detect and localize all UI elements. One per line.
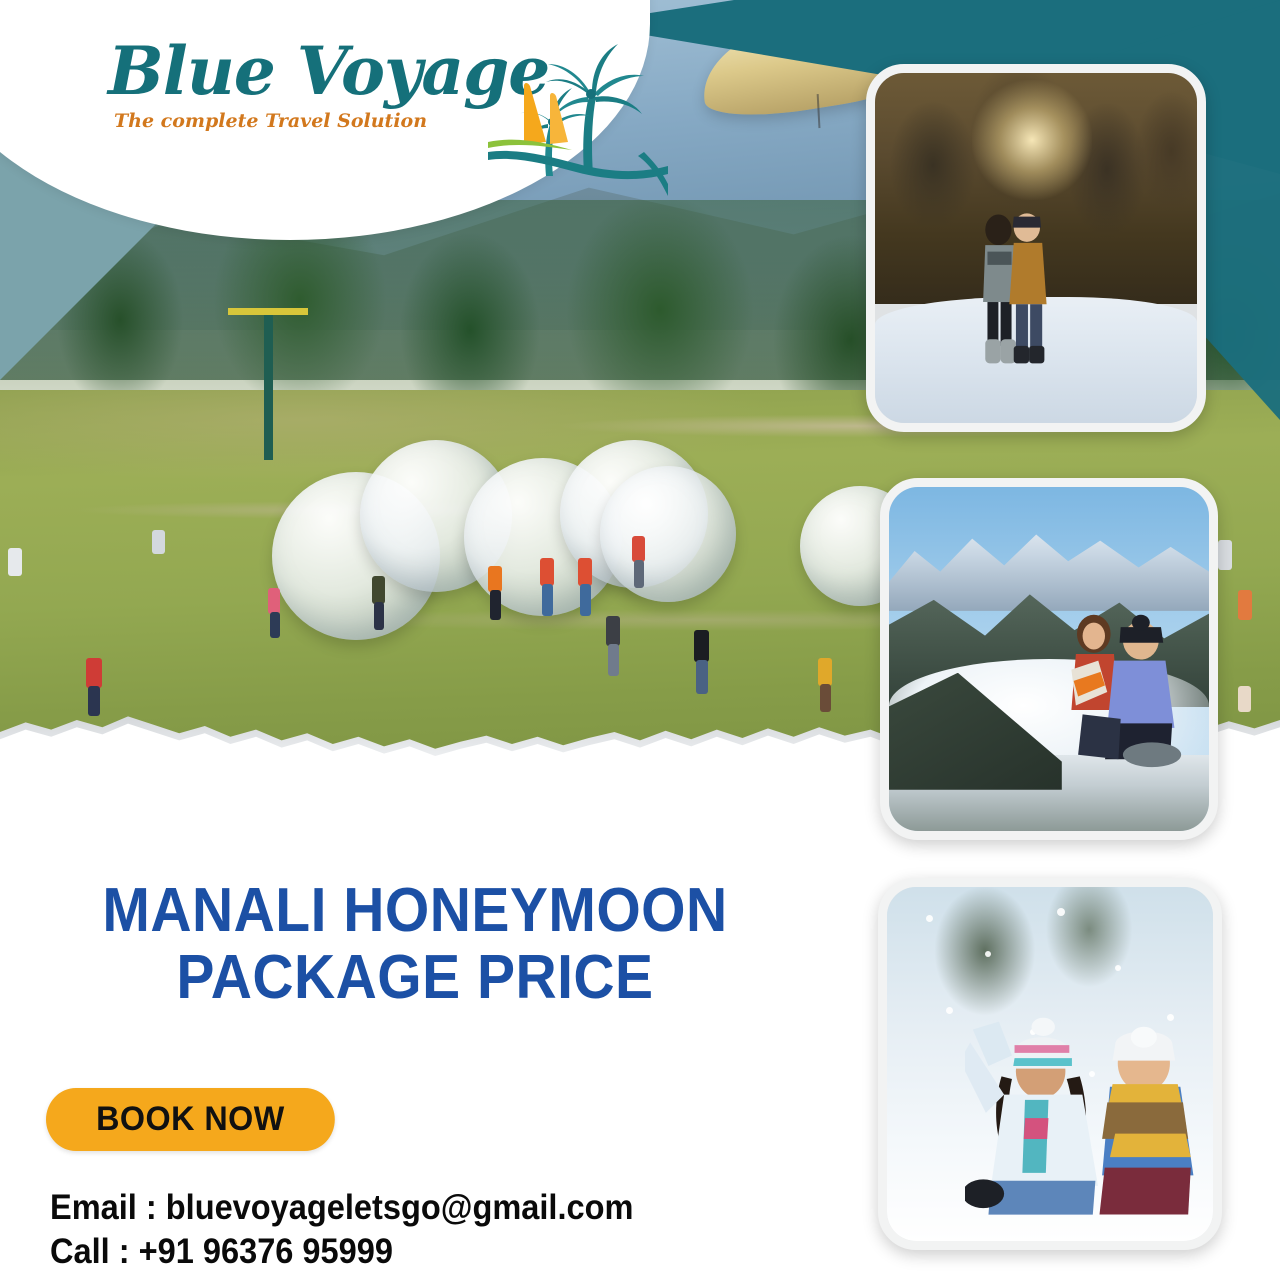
headline-line-2: PACKAGE PRICE: [33, 945, 797, 1012]
person-figure: [490, 590, 501, 620]
person-figure: [488, 566, 502, 592]
person-figure: [818, 658, 832, 686]
photo-card-couple-forest[interactable]: [866, 64, 1206, 432]
sailboat-icon: [524, 83, 568, 144]
person-figure: [8, 548, 22, 576]
person-figure: [1238, 590, 1252, 620]
person-figure: [270, 612, 280, 638]
brand-logo[interactable]: Blue Voyage The complete Travel Solution: [108, 38, 628, 208]
person-figure: [542, 584, 553, 616]
card3-woman: [965, 1000, 1108, 1234]
contact-phone[interactable]: Call : +91 96376 95999: [50, 1230, 633, 1274]
person-figure: [268, 588, 280, 614]
poster-canvas: Blue Voyage The complete Travel Solution: [0, 0, 1280, 1279]
photo-card-couple-mountains[interactable]: [880, 478, 1218, 840]
person-figure: [634, 560, 644, 588]
ski-lift-pole: [264, 310, 273, 460]
palm-tree-icon: [546, 44, 644, 174]
person-figure: [694, 630, 709, 662]
book-now-button[interactable]: BOOK NOW: [46, 1088, 335, 1151]
card1-couple: [959, 199, 1068, 381]
logo-artwork: [488, 24, 668, 204]
zorb-ball: [600, 466, 736, 602]
ski-lift-arm: [228, 308, 308, 315]
person-figure: [696, 660, 708, 694]
person-figure: [606, 616, 620, 646]
person-figure: [820, 684, 831, 712]
photo-card-couple-snow-fun[interactable]: [878, 878, 1222, 1250]
person-figure: [1218, 540, 1232, 570]
person-figure: [1238, 686, 1251, 712]
wave-icon: [488, 140, 668, 180]
contact-email[interactable]: Email : bluevoyageletsgo@gmail.com: [50, 1186, 633, 1230]
card2-couple: [1049, 597, 1183, 776]
person-figure: [152, 530, 165, 554]
person-figure: [608, 644, 619, 676]
card1-sun-glow: [972, 80, 1092, 200]
contact-block: Email : bluevoyageletsgo@gmail.com Call …: [50, 1186, 677, 1275]
person-figure: [540, 558, 554, 586]
person-figure: [372, 576, 385, 604]
person-figure: [374, 602, 384, 630]
headline-line-1: MANALI HONEYMOON: [102, 876, 727, 945]
person-figure: [632, 536, 645, 562]
person-figure: [578, 558, 592, 586]
person-figure: [580, 584, 591, 616]
page-title: MANALI HONEYMOON PACKAGE PRICE: [33, 878, 797, 1012]
person-figure: [86, 658, 102, 688]
person-figure: [88, 686, 100, 716]
